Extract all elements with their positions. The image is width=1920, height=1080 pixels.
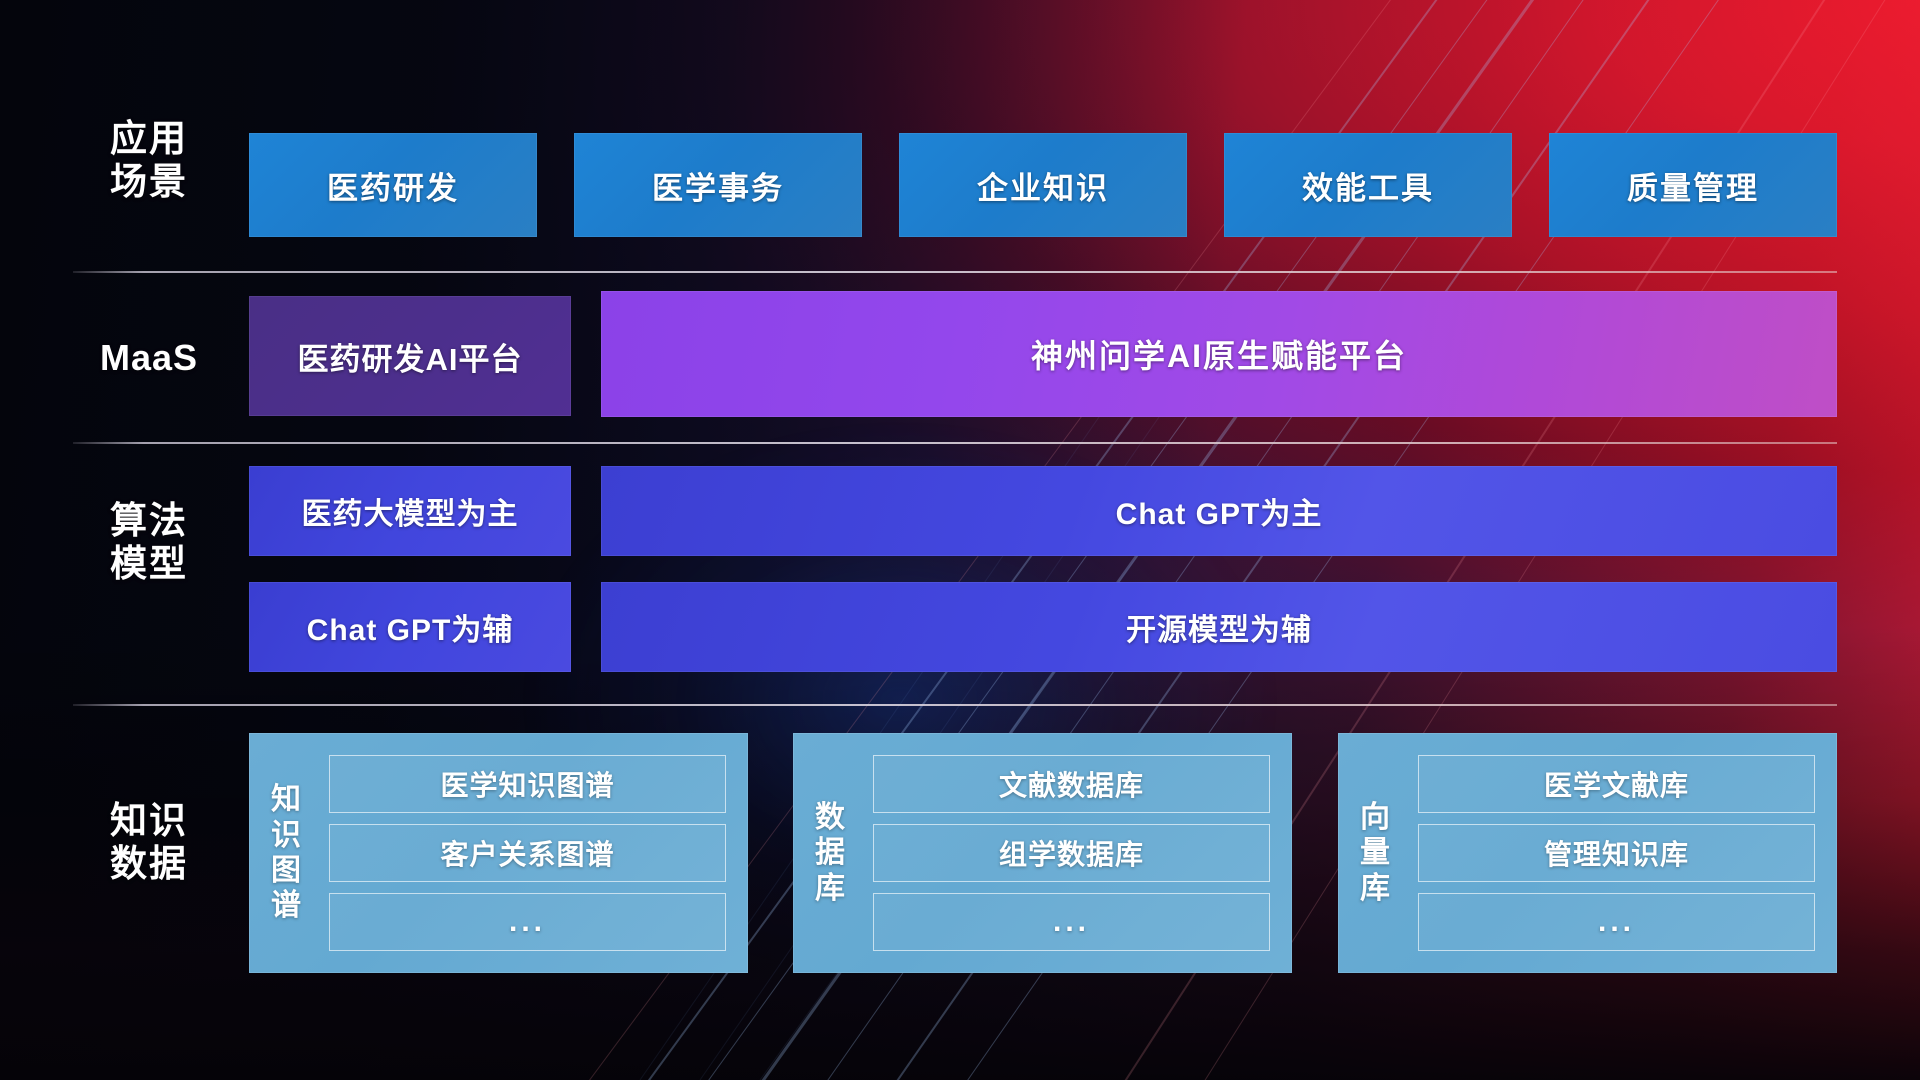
- knowledge-item-more[interactable]: ...: [1418, 893, 1815, 951]
- knowledge-panel-knowledge-graph[interactable]: 知 识 图 谱 医学知识图谱 客户关系图谱 ...: [249, 733, 748, 973]
- divider-2: [73, 442, 1837, 444]
- knowledge-item-list-3: 医学文献库 管理知识库 ...: [1412, 739, 1837, 967]
- scenario-box-2[interactable]: 医学事务: [574, 133, 862, 237]
- knowledge-panel-vector-store[interactable]: 向 量 库 医学文献库 管理知识库 ...: [1338, 733, 1837, 973]
- algo-box-chatgpt-primary[interactable]: Chat GPT为主: [601, 466, 1837, 556]
- row-label-application-scenarios: 应用 场景: [73, 118, 225, 204]
- knowledge-item[interactable]: 管理知识库: [1418, 824, 1815, 882]
- knowledge-item-list-2: 文献数据库 组学数据库 ...: [867, 739, 1292, 967]
- row-label-line-1: 应用: [73, 118, 225, 161]
- knowledge-item-more[interactable]: ...: [329, 893, 726, 951]
- row-label-line-2: 模型: [73, 543, 225, 586]
- knowledge-panel-side-label-3: 向 量 库: [1338, 800, 1412, 906]
- row-label-maas: MaaS: [73, 337, 225, 379]
- side-label-char: 库: [1360, 871, 1390, 906]
- knowledge-item-list-1: 医学知识图谱 客户关系图谱 ...: [323, 739, 748, 967]
- scenario-box-1[interactable]: 医药研发: [249, 133, 537, 237]
- knowledge-item[interactable]: 组学数据库: [873, 824, 1270, 882]
- side-label-char: 图: [271, 853, 301, 888]
- knowledge-item[interactable]: 医学知识图谱: [329, 755, 726, 813]
- knowledge-panel-database[interactable]: 数 据 库 文献数据库 组学数据库 ...: [793, 733, 1292, 973]
- algo-box-chatgpt-secondary[interactable]: Chat GPT为辅: [249, 582, 571, 672]
- knowledge-item[interactable]: 医学文献库: [1418, 755, 1815, 813]
- algo-box-drug-llm-primary[interactable]: 医药大模型为主: [249, 466, 571, 556]
- row-label-line-1: 算法: [73, 500, 225, 543]
- maas-box-shenzhou-wenxue-platform[interactable]: 神州问学AI原生赋能平台: [601, 291, 1837, 417]
- row-label-algorithm-model: 算法 模型: [73, 500, 225, 586]
- scenario-box-4[interactable]: 效能工具: [1224, 133, 1512, 237]
- knowledge-item[interactable]: 文献数据库: [873, 755, 1270, 813]
- maas-box-drug-rd-platform[interactable]: 医药研发AI平台: [249, 296, 571, 416]
- side-label-char: 库: [815, 871, 845, 906]
- side-label-char: 据: [815, 835, 845, 870]
- side-label-char: 向: [1360, 800, 1390, 835]
- knowledge-item[interactable]: 客户关系图谱: [329, 824, 726, 882]
- scenario-box-3[interactable]: 企业知识: [899, 133, 1187, 237]
- divider-1: [73, 271, 1837, 273]
- side-label-char: 数: [815, 800, 845, 835]
- row-label-knowledge-data: 知识 数据: [73, 800, 225, 886]
- row-label-line-1: 知识: [73, 800, 225, 843]
- row-label-line-2: 场景: [73, 161, 225, 204]
- side-label-char: 识: [271, 818, 301, 853]
- side-label-char: 量: [1360, 835, 1390, 870]
- knowledge-panel-side-label-1: 知 识 图 谱: [249, 782, 323, 924]
- divider-3: [73, 704, 1837, 706]
- architecture-rows: 应用 场景 医药研发 医学事务 企业知识 效能工具 质量管理 MaaS 医药研发…: [0, 0, 1920, 1080]
- knowledge-item-more[interactable]: ...: [873, 893, 1270, 951]
- knowledge-panel-side-label-2: 数 据 库: [793, 800, 867, 906]
- side-label-char: 谱: [271, 888, 301, 923]
- row-label-line-2: 数据: [73, 843, 225, 886]
- algo-box-opensource-secondary[interactable]: 开源模型为辅: [601, 582, 1837, 672]
- slide-canvas: 应用 场景 医药研发 医学事务 企业知识 效能工具 质量管理 MaaS 医药研发…: [0, 0, 1920, 1080]
- scenario-box-5[interactable]: 质量管理: [1549, 133, 1837, 237]
- side-label-char: 知: [271, 782, 301, 817]
